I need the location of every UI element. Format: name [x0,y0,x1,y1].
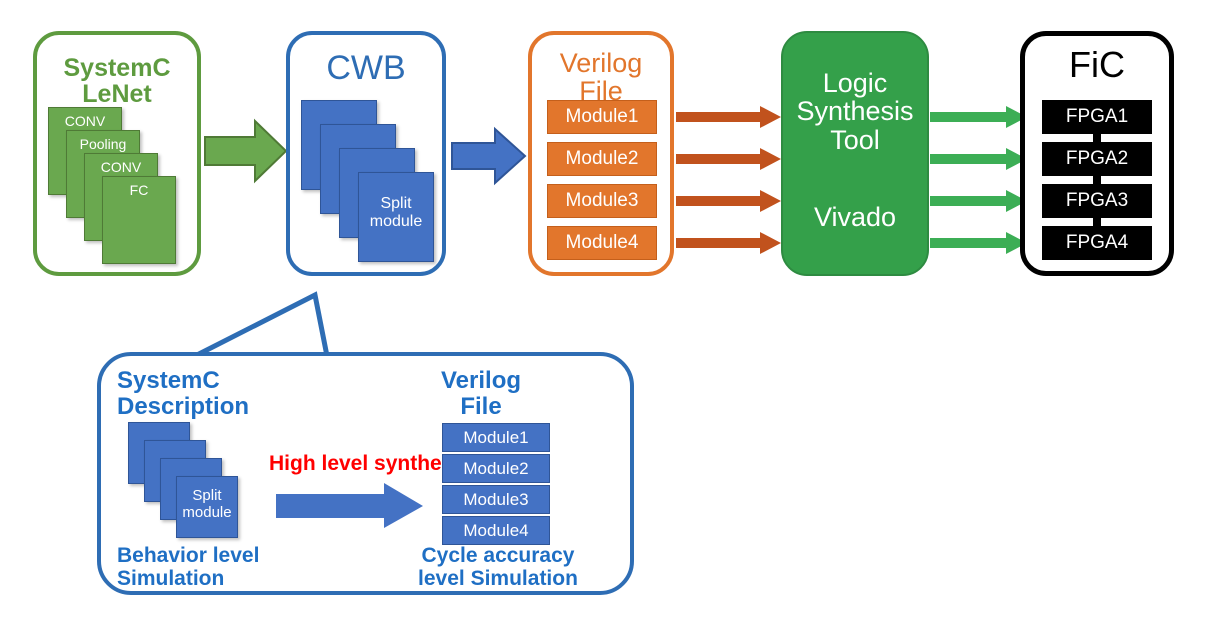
verilog-module-3: Module3 [547,184,657,218]
verilog-module-4: Module4 [547,226,657,260]
callout-tail [90,270,650,360]
fic-connector-1 [1093,134,1101,142]
callout-systemc-title: SystemC Description [117,368,249,420]
fic-fpga-3: FPGA3 [1042,184,1152,218]
fic-fpga-4: FPGA4 [1042,226,1152,260]
systemc-card-conv1-label: CONV [49,113,121,129]
systemc-card-pooling-label: Pooling [67,136,139,152]
fic-fpga-2: FPGA2 [1042,142,1152,176]
arrow-synthesis-to-fic-3 [930,189,1028,213]
cwb-card-split: Split module [358,172,434,262]
arrow-verilog-to-synthesis-2 [676,147,782,171]
stage-synthesis-box: Logic Synthesis Tool Vivado [781,31,929,276]
stage-systemc-title: SystemC LeNet [37,55,197,108]
arrow-verilog-to-synthesis-1 [676,105,782,129]
stage-synthesis-tool-name: Vivado [783,203,927,231]
callout-module-2: Module2 [442,454,550,483]
arrow-synthesis-to-fic-1 [930,105,1028,129]
callout-process-label: High level synthesis [269,452,471,476]
arrow-verilog-to-synthesis-4 [676,231,782,255]
callout-hls-arrow [276,482,424,530]
diagram-canvas: SystemC LeNet CONV Pooling CONV FC CWB S… [0,0,1221,631]
arrow-synthesis-to-fic-4 [930,231,1028,255]
arrow-synthesis-to-fic-2 [930,147,1028,171]
callout-module-3: Module3 [442,485,550,514]
systemc-card-conv2-label: CONV [85,159,157,175]
stage-cwb-title: CWB [290,51,442,87]
callout-module-4: Module4 [442,516,550,545]
arrow-systemc-to-cwb [203,117,289,185]
stage-fic-title: FiC [1025,46,1169,84]
arrow-verilog-to-synthesis-3 [676,189,782,213]
stage-verilog-title: Verilog File [532,49,670,106]
verilog-module-2: Module2 [547,142,657,176]
callout-card-split-label: Split module [177,487,237,522]
systemc-card-fc-label: FC [103,182,175,198]
systemc-card-fc: FC [102,176,176,264]
verilog-module-1: Module1 [547,100,657,134]
callout-card-split: Split module [176,476,238,538]
stage-synthesis-title: Logic Synthesis Tool [783,69,927,154]
cwb-card-split-label: Split module [359,195,433,232]
callout-module-1: Module1 [442,423,550,452]
arrow-cwb-to-verilog [450,126,528,186]
fic-fpga-1: FPGA1 [1042,100,1152,134]
callout-cycle-caption: Cycle accuracy level Simulation [369,545,627,590]
callout-verilog-title: Verilog File [391,368,571,420]
fic-connector-2 [1093,176,1101,184]
fic-connector-3 [1093,218,1101,226]
callout-behavior-caption: Behavior level Simulation [117,545,259,590]
